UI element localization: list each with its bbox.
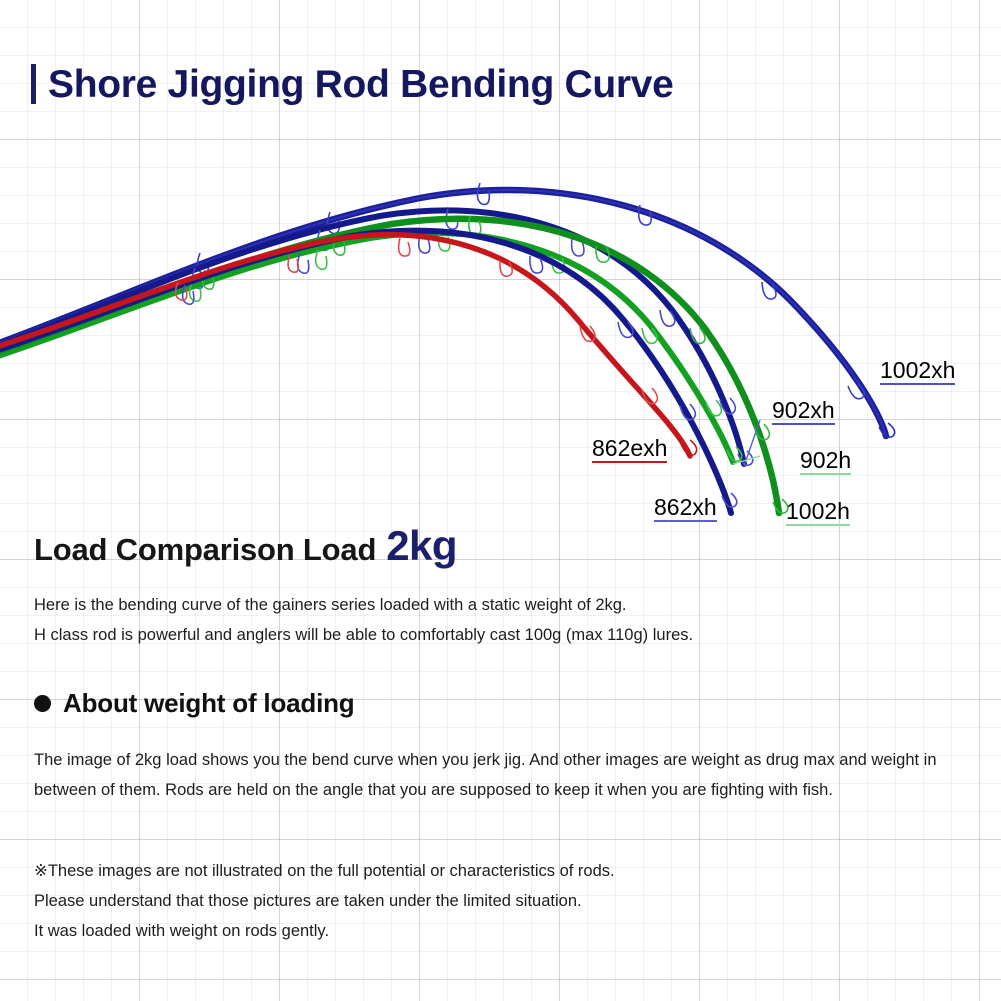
rod-label-902xh-underline (772, 423, 835, 425)
load-weight-value: 2kg (386, 522, 457, 570)
rod-label-862xh: 862xh (654, 495, 717, 524)
page-title: Shore Jigging Rod Bending Curve (31, 64, 674, 104)
intro-line-2: H class rod is powerful and anglers will… (34, 620, 984, 650)
note-line-2: Please understand that those pictures ar… (34, 886, 989, 916)
rod-label-902h-underline (800, 473, 851, 475)
about-weight-heading: About weight of loading (34, 688, 354, 719)
rod-label-902h: 902h (800, 448, 851, 477)
intro-line-1: Here is the bending curve of the gainers… (34, 590, 984, 620)
rod-label-1002h-underline (786, 524, 850, 526)
about-weight-heading-text: About weight of loading (63, 688, 354, 719)
about-weight-paragraph: The image of 2kg load shows you the bend… (34, 745, 989, 805)
rod-label-902xh-text: 902xh (772, 398, 835, 422)
load-comparison-heading: Load Comparison Load 2kg (34, 522, 457, 570)
note-line-3: It was loaded with weight on rods gently… (34, 916, 989, 946)
rod-label-902xh: 902xh (772, 398, 835, 427)
title-text: Shore Jigging Rod Bending Curve (48, 65, 674, 104)
intro-paragraph: Here is the bending curve of the gainers… (34, 590, 984, 650)
rod-bending-curve-chart: 1002xh 902xh 902h 1002h 862xh 862exh (0, 150, 1001, 540)
rod-label-1002h: 1002h (786, 499, 850, 528)
rod-label-862xh-underline (654, 520, 717, 522)
rod-label-862exh-text: 862exh (592, 436, 667, 460)
rod-curve-1002h (0, 216, 788, 513)
rod-label-1002h-text: 1002h (786, 499, 850, 523)
rod-label-862exh: 862exh (592, 436, 667, 465)
load-comparison-label: Load Comparison Load (34, 532, 376, 568)
title-accent-bar (31, 64, 36, 104)
note-line-1: ※These images are not illustrated on the… (34, 856, 989, 886)
rod-label-1002xh: 1002xh (880, 358, 955, 387)
rod-curve-862exh (0, 235, 697, 456)
rod-label-862exh-underline (592, 461, 667, 463)
rod-label-862xh-text: 862xh (654, 495, 717, 519)
bullet-icon (34, 695, 51, 712)
note-paragraph: ※These images are not illustrated on the… (34, 856, 989, 946)
rod-label-1002xh-text: 1002xh (880, 358, 955, 382)
rod-label-1002xh-underline (880, 383, 955, 385)
rod-label-902h-text: 902h (800, 448, 851, 472)
rod-curves-svg (0, 150, 1001, 540)
